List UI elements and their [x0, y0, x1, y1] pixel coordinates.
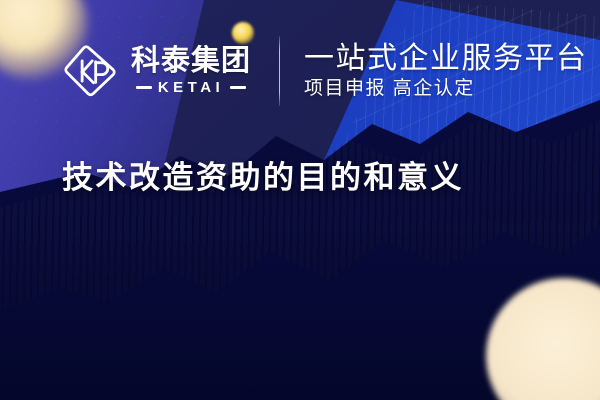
brand-name-en: KETAI — [158, 80, 224, 95]
slogan-main: 一站式企业服务平台 — [304, 43, 588, 75]
vertical-divider — [279, 36, 280, 106]
banner-content: 科泰集团 KETAI 一站式企业服务平台 项目申报 高企认定 技术改造资助的目的… — [0, 0, 600, 400]
ketai-diamond-kp-logo-icon — [62, 43, 118, 99]
dash-left-icon — [136, 86, 152, 89]
dash-right-icon — [230, 86, 246, 89]
brand-wordmark: 科泰集团 KETAI — [131, 47, 251, 95]
brand-logo: 科泰集团 KETAI — [62, 43, 251, 99]
slogan-sub: 项目申报 高企认定 — [304, 79, 588, 99]
banner-header: 科泰集团 KETAI 一站式企业服务平台 项目申报 高企认定 — [62, 36, 588, 106]
brand-name-en-row: KETAI — [131, 80, 251, 95]
slogan-block: 一站式企业服务平台 项目申报 高企认定 — [304, 43, 588, 99]
promo-banner: 科泰集团 KETAI 一站式企业服务平台 项目申报 高企认定 技术改造资助的目的… — [0, 0, 600, 400]
brand-name-cn: 科泰集团 — [131, 47, 251, 77]
page-title: 技术改造资助的目的和意义 — [62, 152, 464, 197]
